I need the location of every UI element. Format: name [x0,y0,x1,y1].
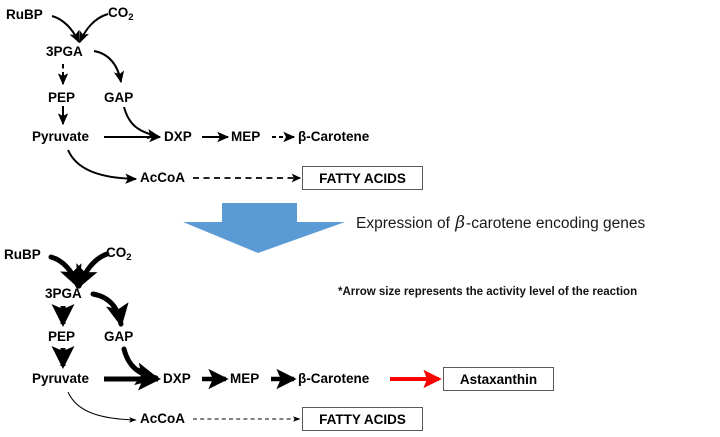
node-bottom-fatty-acids-box: FATTY ACIDS [302,407,423,431]
node-bottom-carotene: β-Carotene [298,372,369,386]
node-bottom-rubp: RuBP [4,248,41,262]
node-bottom-co2: CO2 [106,246,132,260]
edge-b-gap-to-dxp [124,349,156,378]
edge-b-pyruvate-to-accoa [68,392,136,420]
edge-b-3pga-to-gap [93,294,121,324]
node-bottom-dxp: DXP [163,372,191,386]
node-bottom-astaxanthin-box: Astaxanthin [443,367,554,391]
edge-b-rubp-to-3pga [51,257,78,286]
node-bottom-accoa: AcCoA [140,412,185,426]
node-bottom-gap: GAP [104,330,133,344]
node-bottom-co2-label: CO [106,245,126,260]
node-bottom-mep: MEP [230,372,259,386]
pathway-diagram: RuBP CO2 3PGA PEP GAP Pyruvate DXP MEP β… [0,0,720,437]
node-bottom-co2-subscript: 2 [126,252,131,263]
node-bottom-pyruvate: Pyruvate [32,372,89,386]
node-bottom-3pga: 3PGA [45,287,82,301]
node-bottom-pep: PEP [48,330,75,344]
edge-b-co2-to-3pga [79,254,107,286]
